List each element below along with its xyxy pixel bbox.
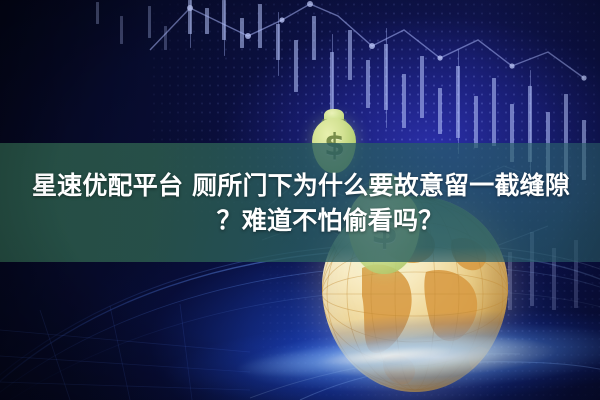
caption-line-2: ？难道不怕偷看吗？: [157, 206, 444, 237]
trend-line-nodes: [187, 1, 587, 81]
caption-line-1: 星速优配平台 厕所门下为什么要故意留一截缝隙: [30, 171, 570, 202]
banner-image: $: [0, 0, 600, 400]
trend-line-chart: [150, 4, 584, 78]
caption-text: 星速优配平台 厕所门下为什么要故意留一截缝隙 ？难道不怕偷看吗？: [0, 143, 600, 262]
